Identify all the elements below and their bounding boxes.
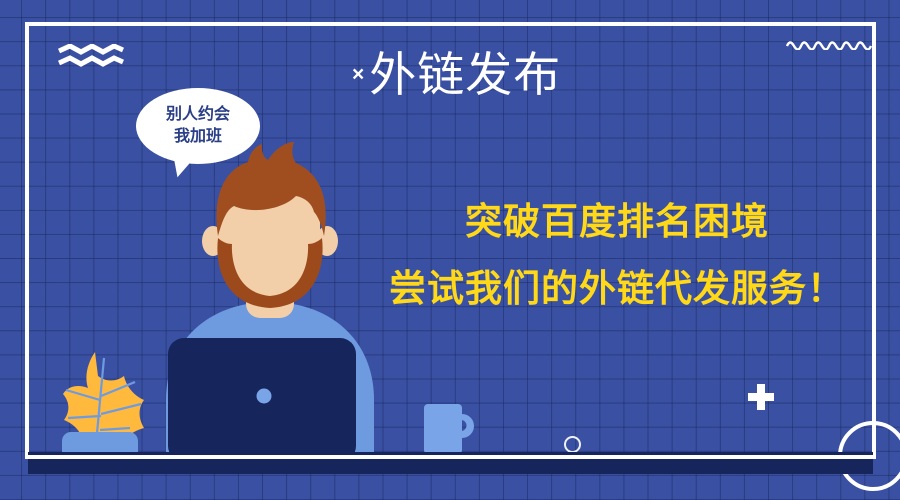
illustration-scene	[0, 0, 900, 500]
promotional-banner: ×外链发布 突破百度排名困境 尝试我们的外链代发服务！	[0, 0, 900, 500]
laptop-logo	[257, 389, 272, 404]
potted-plant	[62, 352, 144, 464]
speech-bubble-line-2: 我加班	[174, 126, 222, 148]
coffee-mug	[424, 404, 474, 454]
person-mouth	[242, 268, 298, 286]
speech-bubble-line-1: 别人约会	[166, 104, 230, 126]
speech-bubble: 别人约会 我加班	[136, 88, 260, 164]
laptop	[168, 338, 356, 462]
desk-edge-line	[28, 455, 873, 459]
